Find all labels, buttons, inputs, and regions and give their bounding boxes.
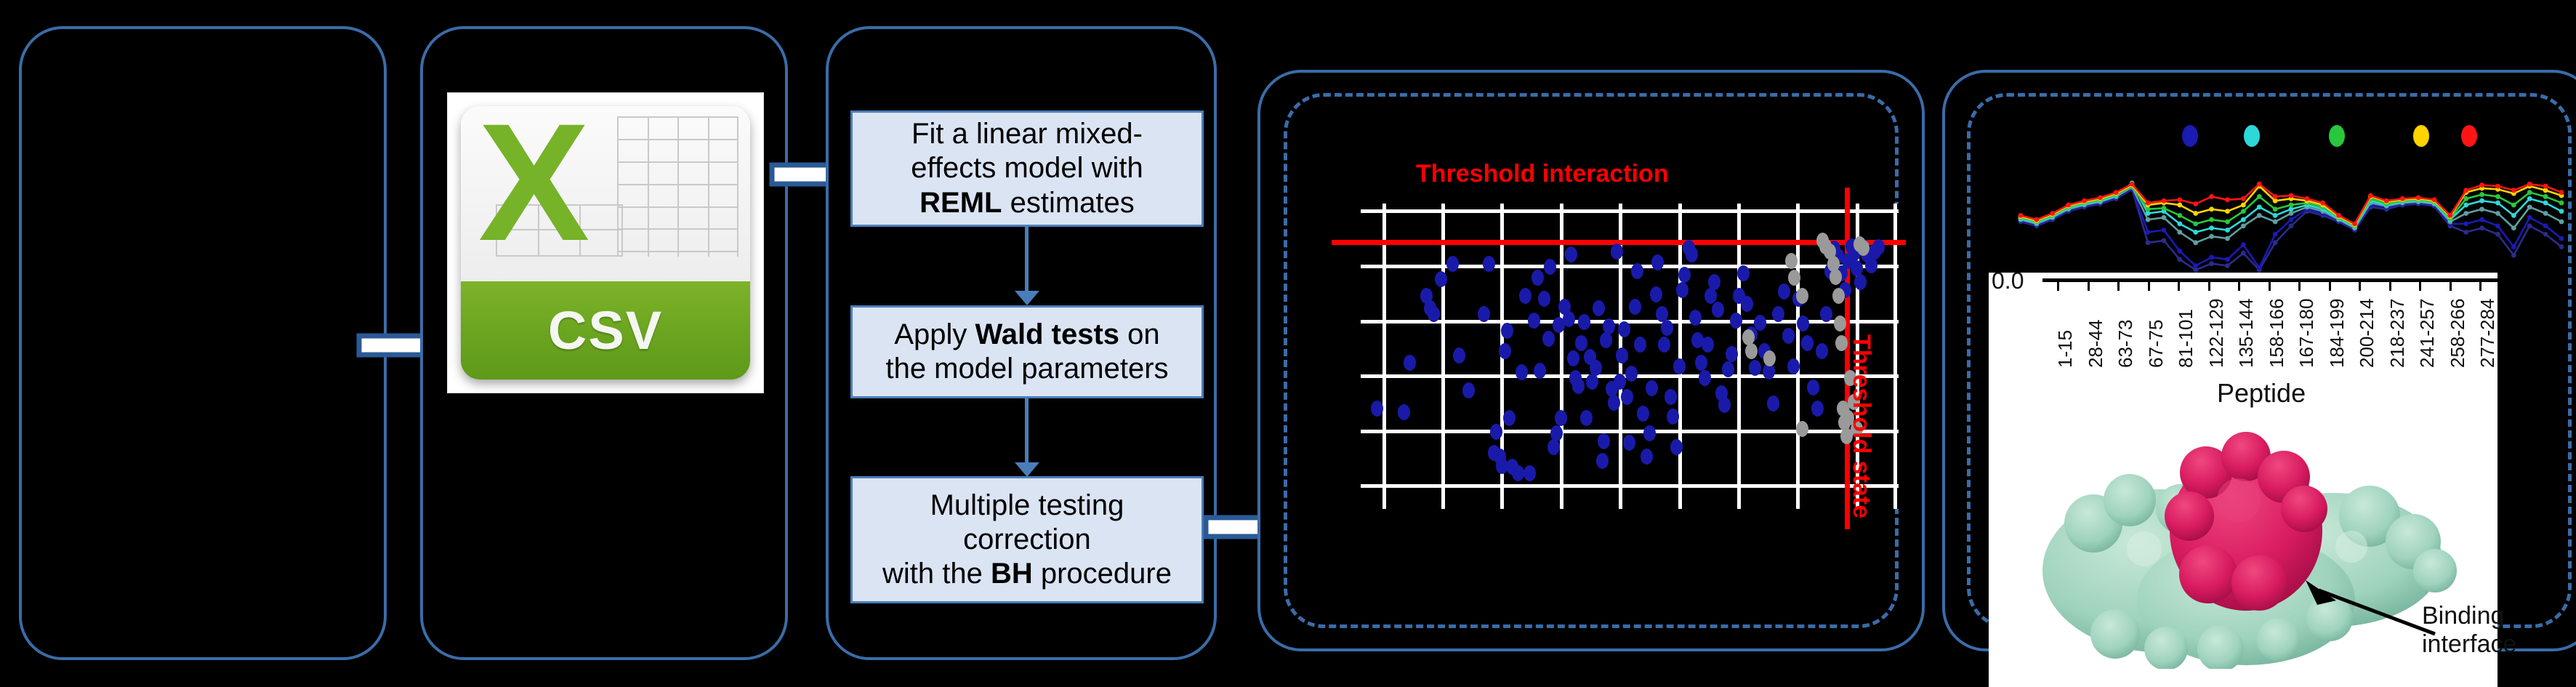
peptide-series-marker [2479,225,2484,230]
peptide-series-marker [2257,213,2262,218]
scatter-point [1797,316,1809,332]
scatter-point [1623,435,1635,451]
scatter-point [1857,240,1869,256]
peptide-series-marker [2225,209,2230,214]
scatter-point [1603,318,1615,334]
peptide-series-marker [2447,213,2452,218]
scatter-point [1754,315,1766,331]
gridline-v [1796,204,1800,509]
peptide-series-marker [2082,198,2087,204]
peptide-series-marker [2352,221,2357,226]
peptide-xtick-mark [2148,282,2150,291]
scatter-point [1446,256,1459,272]
peptide-series-marker [2241,223,2246,228]
peptide-series-marker [2416,195,2421,200]
csv-extension-label: CSV [461,281,750,379]
scatter-point [1865,257,1877,273]
peptide-series-marker [2257,265,2262,270]
scatter-point [1749,360,1761,376]
scatter-point [1499,343,1511,359]
peptide-series-marker [2225,257,2230,262]
peptide-series-marker [2225,220,2230,225]
scatter-point [1614,374,1626,390]
peptide-xtick-label: 158-166 [2266,299,2288,368]
scatter-point [1528,313,1540,329]
peptide-xtick-label: 277-284 [2476,299,2499,368]
peptide-series-marker [2177,257,2182,262]
scatter-point [1667,409,1679,425]
peptide-series-marker [2527,182,2532,187]
peptide-series-marker [2495,194,2500,199]
scatter-point [1872,239,1885,255]
step-box-bh: Multiple testing correction with the BH … [850,476,1204,603]
scatter-point [1673,358,1686,374]
peptide-series-marker [2511,213,2516,218]
scatter-point [1745,343,1758,359]
scatter-point [1832,288,1845,304]
peptide-series-marker [2559,190,2564,195]
xaxis-title-peptide: Peptide [2217,378,2306,409]
scatter-point [1593,300,1605,316]
peptide-series-marker [2543,201,2548,206]
scatter-point [1580,410,1593,426]
scatter-point [1704,288,1717,304]
yaxis-tick-0: 0.0 [1992,268,2024,294]
peptide-series-marker [2146,240,2151,245]
peptide-series-marker [2289,223,2294,228]
peptide-xtick-mark [2329,282,2331,291]
peptide-series-marker [2241,203,2246,208]
scatter-point [1550,425,1563,441]
scatter-point [1796,421,1808,437]
peptide-series-marker [2495,211,2500,216]
scatter-point [1702,337,1714,353]
peptide-series-marker [2289,203,2294,208]
binding-interface-line2: interface [2422,630,2516,659]
peptide-series-marker [2193,201,2198,206]
peptide-series-marker [2527,215,2532,220]
peptide-series-marker [2368,193,2373,198]
peptide-series-marker [2241,242,2246,247]
peptide-series-marker [2162,206,2167,211]
peptide-series-marker [2209,217,2214,222]
panel-input [19,26,387,660]
gridline-v [1893,204,1897,509]
peptide-series-marker [2162,228,2167,233]
peptide-series-marker [2559,209,2564,214]
scatter-point [1801,335,1814,351]
peptide-xtick-mark [2057,282,2059,291]
scatter-point [1737,265,1750,281]
step-bh-post: procedure [1033,558,1172,590]
scatter-point [1483,256,1495,272]
peptide-series-marker [2098,195,2103,200]
scatter-point [1611,244,1623,260]
peptide-series-marker [2241,209,2246,214]
peptide-series-marker [2463,188,2468,193]
peptide-series-marker [2273,232,2278,237]
scatter-point [1830,269,1842,285]
peptide-series-marker [2066,203,2071,208]
step-bh-line1: Multiple testing [930,489,1124,521]
peptide-xtick-label: 167-180 [2295,299,2318,368]
csv-extension-band: CSV [461,281,750,379]
protein-structure-image [2028,422,2479,669]
peptide-series-marker [2130,182,2135,187]
legend-dot-4 [2413,125,2429,147]
peptide-series-marker [2257,182,2262,187]
scatter-point [1524,465,1536,481]
scatter-point [1435,271,1447,287]
step-wald-line2: the model parameters [885,353,1168,385]
peptide-series-marker [2527,190,2532,195]
peptide-series-marker [2162,238,2167,244]
scatter-point [1796,288,1808,304]
step-bh-pre: with the [882,558,991,590]
peptide-series-marker [2511,188,2516,193]
csv-file-icon: X CSV [461,106,750,379]
scatter-point [1634,337,1646,353]
step-model-line1: Fit a linear mixed- [911,118,1143,150]
peptide-xtick-mark [2479,282,2482,291]
csv-file-card: X CSV [448,93,763,393]
peptide-xtick-label: 218-237 [2386,299,2409,368]
peptide-series-marker [2463,221,2468,226]
scatter-point [1547,439,1560,455]
scatter-point [1699,370,1711,386]
peptide-series-marker [2225,263,2230,268]
scatter-point [1625,366,1638,382]
scatter-point [1542,331,1555,347]
binding-interface-annotation: Binding interface [2422,602,2516,659]
peptide-series-marker [2209,234,2214,239]
peptide-xtick-label: 122-129 [2205,299,2228,368]
scatter-point [1835,335,1848,351]
scatter-point [1503,410,1516,426]
peptide-xtick-mark [2208,282,2210,291]
scatter-point [1782,328,1795,344]
scatter-point [1575,335,1587,351]
peptide-xtick-label: 81-101 [2175,309,2197,368]
scatter-point [1854,274,1867,290]
scatter-point [1567,350,1579,366]
scatter-point [1544,259,1556,275]
peptide-series-marker [2543,184,2548,189]
scatter-point [1778,284,1790,300]
peptide-xtick-label: 258-266 [2447,299,2469,368]
scatter-point [1621,389,1633,405]
peptide-series-marker [2034,217,2039,222]
peptide-series-marker [2527,204,2532,209]
excel-x-letter: X [478,106,589,266]
csv-spreadsheet-grid: X [461,106,750,281]
scatter-point [1726,346,1738,362]
scatter-point [1676,282,1689,298]
peptide-series-marker [2018,213,2024,218]
peptide-xtick-label: 200-214 [2356,299,2378,368]
scatter-point [1646,380,1658,396]
scatter-point [1670,439,1683,455]
peptide-series-marker [2146,230,2151,235]
scatter-point [1807,379,1819,395]
peptide-xtick-mark [2088,282,2090,291]
peptide-series-marker [2146,201,2151,206]
peptide-xtick-label: 184-199 [2326,299,2348,368]
peptide-series-marker [2193,263,2198,268]
scatter-point [1618,321,1630,337]
peptide-xtick-mark [2238,282,2240,291]
peptide-series-marker [2209,261,2214,266]
connector-2 [1025,398,1029,465]
scatter-point [1590,360,1602,376]
step-model-reml: REML [919,187,1002,219]
scatter-point [1600,332,1612,348]
peptide-series-marker [2273,240,2278,245]
peptide-xtick-label: 135-144 [2235,299,2258,368]
peptide-series-marker [2463,196,2468,201]
peptide-series-marker [2273,213,2278,218]
figure-canvas: X CSV Fit a linear mixed- effects model … [0,0,2576,687]
peptide-series-marker [2162,198,2167,204]
peptide-series-marker [2559,201,2564,206]
peptide-xtick-mark [2117,282,2120,291]
peptide-series-marker [2209,194,2214,199]
peptide-series-marker [2543,223,2548,228]
scatter-point [1658,337,1670,353]
scatter-point [1650,286,1662,302]
connector-1 [1025,227,1029,294]
peptide-xtick-mark [2389,282,2391,291]
scatter-point [1718,397,1731,413]
peptide-series-marker [2432,197,2437,202]
legend-dot-5 [2461,125,2477,147]
scatter-point [1678,267,1691,283]
peptide-xtick-mark [2450,282,2452,291]
scatter-point [1629,299,1641,315]
peptide-series-marker [2559,236,2564,241]
peptide-series-marker [2146,217,2151,222]
peptide-series-marker [2511,244,2516,249]
scatter-point [1478,306,1490,322]
peptide-series-marker [2559,220,2564,225]
scatter-point [1565,246,1577,262]
peptide-series-marker [2241,217,2246,222]
peptide-series-marker [2257,194,2262,199]
peptide-series-marker [2479,217,2484,222]
peptide-series-marker [2209,225,2214,230]
peptide-series-marker [2543,211,2548,216]
scatter-point [1519,288,1531,304]
volcano-scatter-plot [1361,204,1899,509]
peptide-series-marker [2495,223,2500,228]
peptide-series-marker [2384,198,2389,204]
scatter-point [1608,395,1620,411]
gridline-v [1560,204,1563,509]
peptide-series-marker [2209,206,2214,212]
peptide-series-marker [2527,223,2532,228]
peptide-series-marker [2304,196,2309,201]
peptide-xtick-mark [2178,282,2180,291]
peptide-series-marker [2543,194,2548,199]
scatter-point [1462,382,1475,398]
peptide-series-marker [2241,251,2246,256]
scatter-point [1834,316,1846,332]
peptide-series-marker [2257,204,2262,209]
scatter-point [1501,323,1513,339]
peptide-series-marker [2495,201,2500,206]
step-bh-bold: BH [991,558,1033,590]
peptide-xtick-mark [2419,282,2421,291]
peptide-series-marker [2177,230,2182,235]
scatter-point [1586,374,1598,390]
scatter-point [1453,347,1465,363]
step-wald-pre: Apply [894,318,975,350]
step-box-model: Fit a linear mixed- effects model with R… [850,111,1204,227]
peptide-series-marker [2209,255,2214,260]
scatter-point [1512,465,1524,481]
peptide-xtick-label: 1-15 [2054,330,2077,368]
peptide-series-marker [2193,240,2198,245]
legend-dot-3 [2329,125,2345,147]
peptide-series-marker [2177,249,2182,254]
peptide-series-marker [2495,232,2500,237]
connector-2-arrowhead [1015,462,1039,477]
step-model-line2: effects model with [911,152,1143,184]
peptide-series-marker [2320,201,2325,206]
peptide-series-marker [2511,225,2516,230]
peptide-series-marker [2193,230,2198,235]
peptide-series-marker [2336,213,2341,218]
peptide-series-marker [2114,190,2119,195]
peptide-series-marker [2273,220,2278,225]
peptide-series-marker [2193,221,2198,226]
peptide-series-marker [2177,213,2182,218]
scatter-point [1785,253,1798,269]
peptide-series-marker [2511,203,2516,208]
peptide-series-marker [2479,206,2484,212]
scatter-point [1598,433,1610,449]
peptide-series-marker [2495,184,2500,189]
peptide-series-marker [2527,196,2532,201]
scatter-point [1712,302,1724,318]
step-bh-line2: correction [963,523,1091,555]
peptide-xtick-mark [2269,282,2271,291]
scatter-point [1404,355,1416,371]
step-box-wald: Apply Wald tests on the model parameters [850,305,1204,398]
peptide-series-marker [2273,206,2278,212]
scatter-point [1563,311,1575,327]
peptide-series-marker [2225,228,2230,233]
peptide-series-marker [2511,253,2516,258]
scatter-point [1531,270,1544,286]
scatter-point [1596,453,1609,469]
binding-interface-line1: Binding [2422,602,2516,630]
threshold-interaction-label: Threshold interaction [1416,160,1669,188]
step-wald-post: on [1119,318,1160,350]
gridline-v [1441,204,1445,509]
legend-dot-1 [2182,125,2198,147]
peptide-series-marker [2193,211,2198,216]
scatter-point [1665,389,1677,405]
peptide-series-marker [2463,230,2468,235]
peptide-series-marker [2400,196,2405,201]
gridline-v [1678,204,1682,509]
peptide-series-marker [2225,236,2230,241]
scatter-point [1428,306,1440,322]
threshold-state-label: Threshold state [1847,334,1875,518]
scatter-point [1816,343,1828,359]
scatter-point [1637,406,1649,422]
gridline-v [1382,204,1386,509]
scatter-point [1398,404,1410,420]
scatter-point [1578,314,1590,330]
peptide-series-marker [2463,211,2468,216]
scatter-point [1643,425,1656,441]
peptide-series-marker [2241,196,2246,201]
scatter-point [1741,296,1753,312]
scatter-point [1572,378,1585,394]
peptide-series-marker [2463,203,2468,208]
peptide-xtick-label: 28-44 [2085,320,2107,369]
peptide-xtick-label: 67-75 [2145,320,2168,369]
scatter-point [1811,401,1824,417]
peptide-xtick-mark [2298,282,2301,291]
peptide-series-marker [2543,232,2548,237]
peptide-series-marker [2289,217,2294,222]
legend-dot-2 [2244,125,2260,147]
peptide-series-marker [2479,182,2484,188]
scatter-point [1538,291,1550,307]
peptide-xtick-label: 241-257 [2416,299,2439,368]
peptide-series-marker [2050,211,2055,216]
peptide-series-marker [2177,197,2182,202]
peptide-xtick-label: 63-73 [2114,320,2137,369]
scatter-point [1631,263,1643,279]
scatter-point [1555,410,1567,426]
peptide-series-marker [2177,203,2182,208]
scatter-point [1641,449,1653,465]
peptide-series-marker [2162,215,2167,220]
peptide-series-marker [2479,198,2484,204]
scatter-point [1661,320,1673,336]
step-wald-bold: Wald tests [975,318,1120,350]
peptide-series-marker [2559,244,2564,249]
scatter-point [1787,358,1800,374]
scatter-point [1767,395,1779,411]
scatter-point [1763,350,1776,366]
scatter-point [1616,347,1628,363]
step-model-line3-rest: estimates [1002,187,1135,219]
peptide-series-marker [2177,221,2182,226]
scatter-point [1722,361,1734,377]
peptide-series-marker [2479,192,2484,197]
peptide-series-marker [2225,197,2230,202]
scatter-point [1686,246,1698,262]
peptide-series-marker [2289,193,2294,198]
scatter-point [1730,313,1742,329]
peptide-series-marker [2273,194,2278,199]
scatter-point [1689,310,1702,326]
peptide-uptake-linechart [2006,156,2576,280]
connector-1-arrowhead [1015,291,1039,305]
peptide-xtick-mark [2359,282,2361,291]
gridline-v [1737,204,1741,509]
scatter-point [1708,274,1720,290]
scatter-point [1695,355,1707,371]
